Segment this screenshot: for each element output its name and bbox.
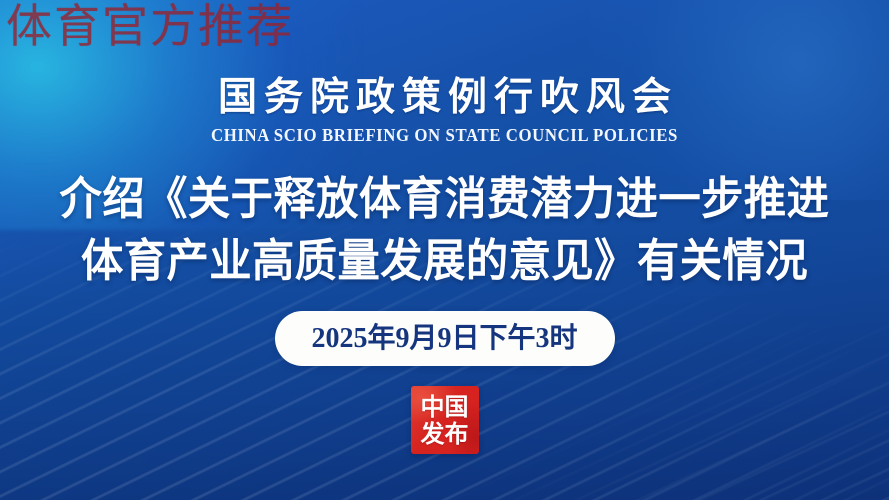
date-badge: 2025年9月9日下午3时	[275, 311, 615, 366]
header-title-english: CHINA SCIO BRIEFING ON STATE COUNCIL POL…	[18, 127, 871, 145]
header-block: 国务院政策例行吹风会 CHINA SCIO BRIEFING ON STATE …	[0, 78, 889, 145]
headline-line-1: 介绍《关于释放体育消费潜力进一步推进	[27, 168, 863, 230]
headline-line-2: 体育产业高质量发展的意见》有关情况	[27, 230, 863, 292]
logo-text-line-1: 中国	[421, 394, 469, 420]
briefing-poster: 体育官方推荐 国务院政策例行吹风会 CHINA SCIO BRIEFING ON…	[0, 0, 889, 500]
logo-text-line-2: 发布	[421, 421, 469, 447]
date-badge-text: 2025年9月9日下午3时	[311, 325, 577, 353]
headline-block: 介绍《关于释放体育消费潜力进一步推进 体育产业高质量发展的意见》有关情况	[0, 168, 889, 292]
header-title-chinese: 国务院政策例行吹风会	[0, 78, 889, 117]
watermark-text: 体育官方推荐	[6, 2, 294, 50]
china-release-logo: 中国 发布	[411, 386, 479, 454]
logo-text-group: 中国 发布	[411, 386, 479, 454]
